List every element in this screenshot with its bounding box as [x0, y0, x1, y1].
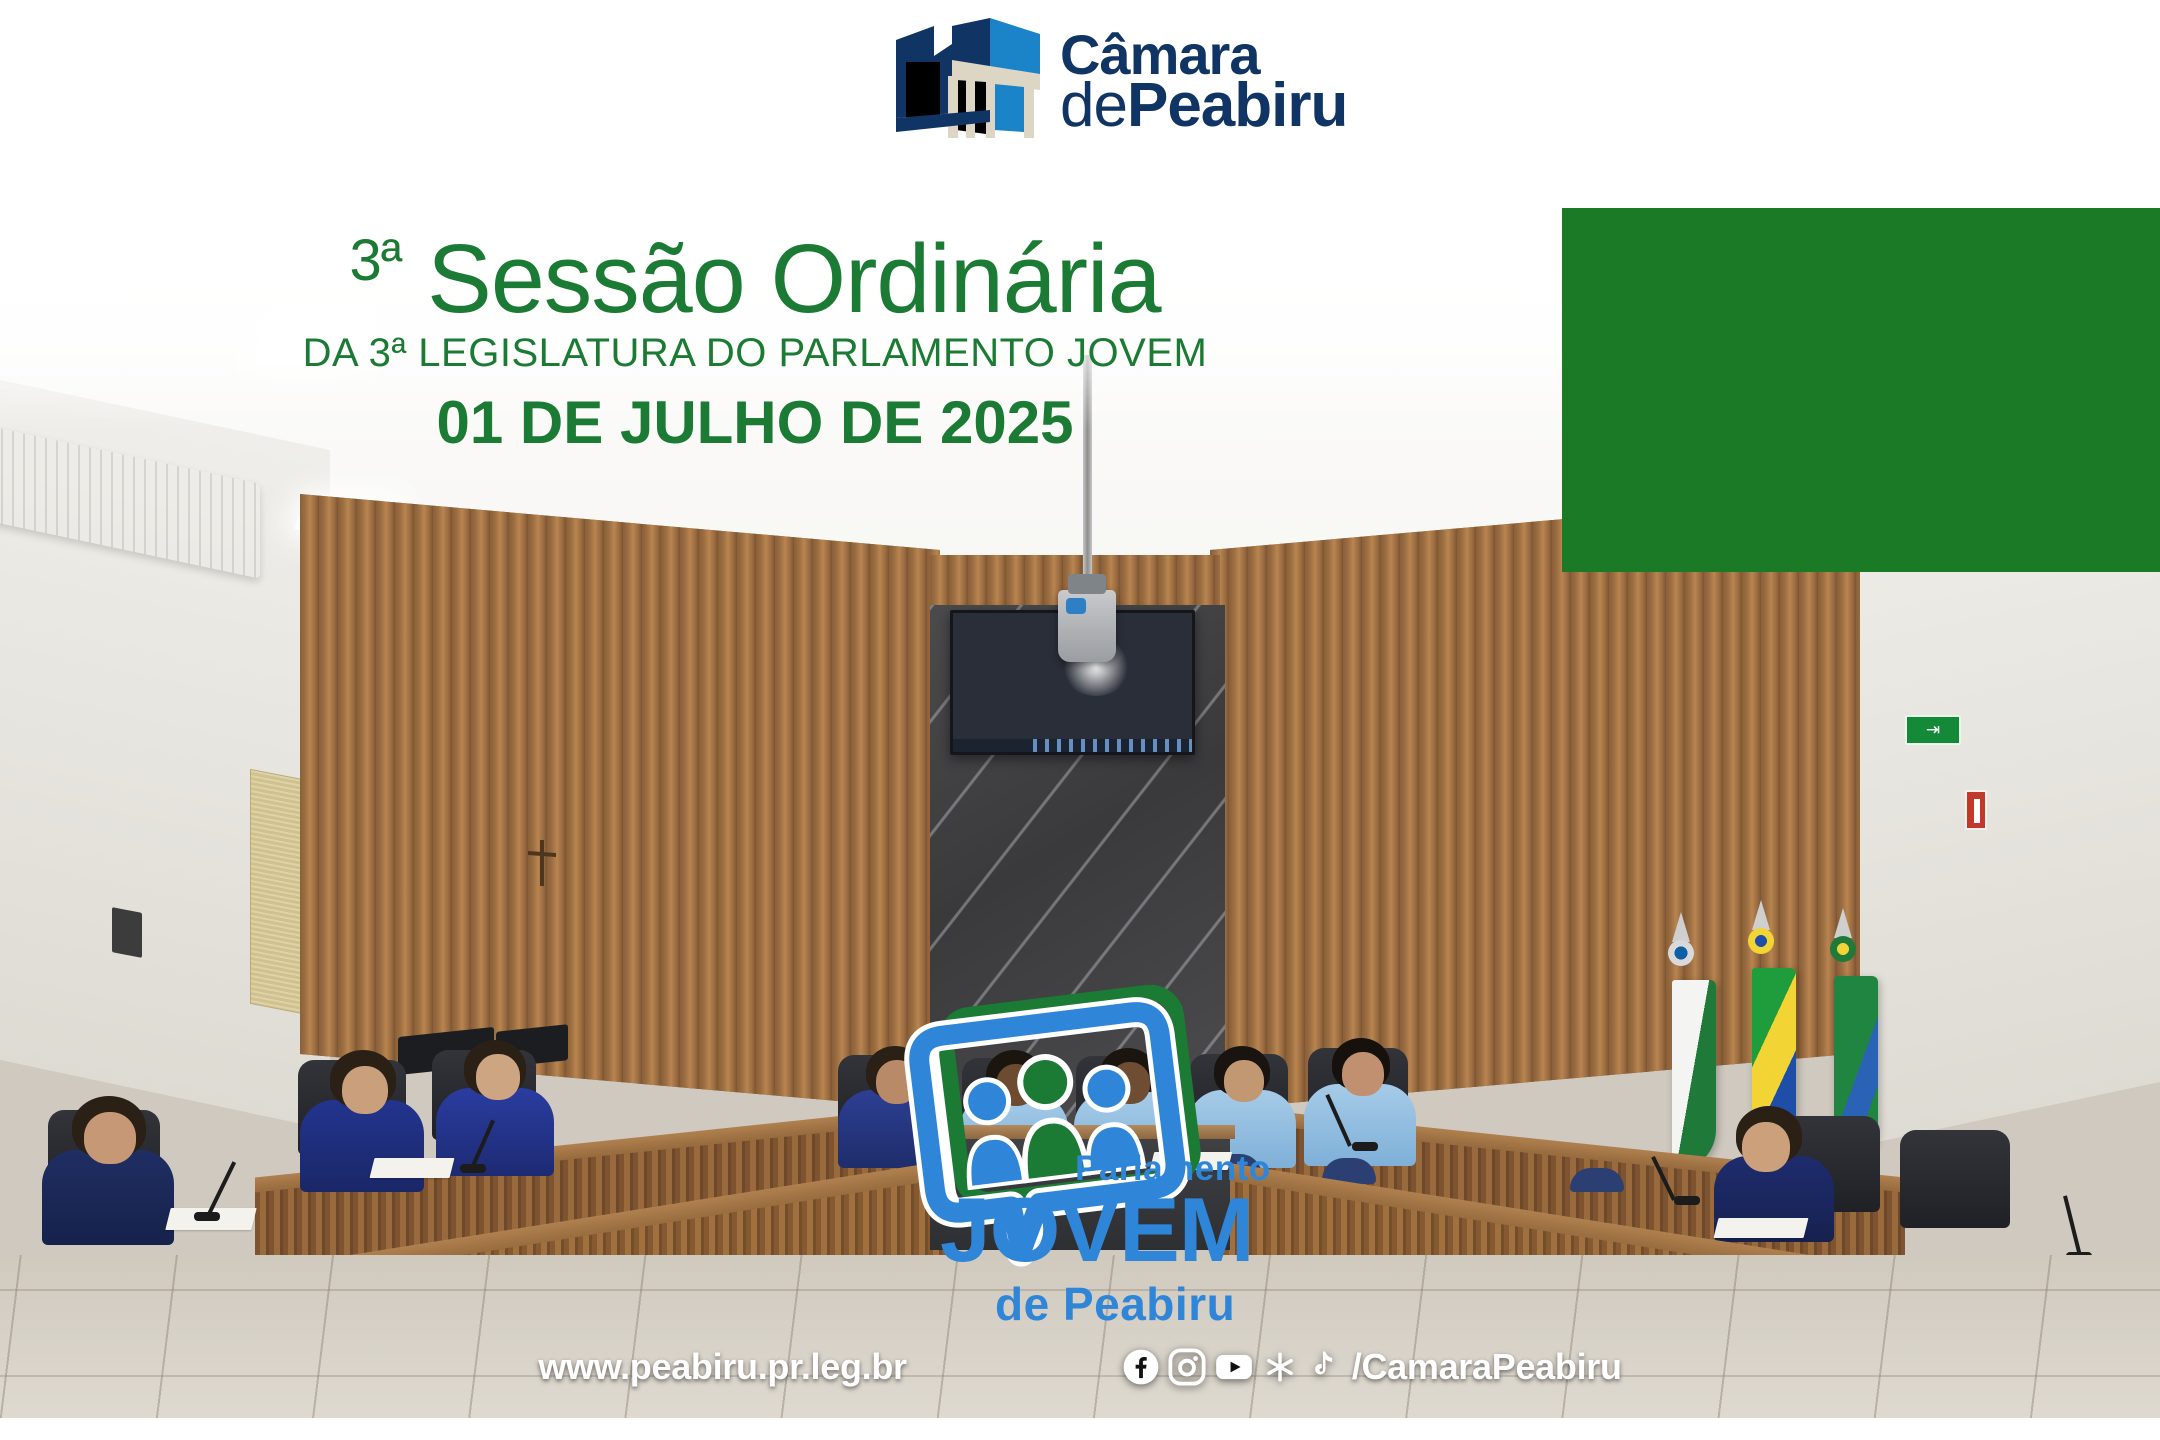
youtube-icon[interactable] [1214, 1348, 1254, 1386]
flag-finial [1672, 912, 1690, 942]
ceiling-projector [1058, 590, 1116, 662]
session-title-block: 3ª Sessão Ordinária DA 3ª LEGISLATURA DO… [0, 230, 1510, 457]
footer-bar: www.peabiru.pr.leg.br [0, 1346, 2160, 1388]
projector-lens [1066, 598, 1086, 614]
flag-finial-ball [1748, 928, 1774, 954]
tiktok-icon[interactable] [1306, 1348, 1338, 1386]
green-placeholder-block [1562, 208, 2160, 572]
poster-canvas: ⇥ [0, 0, 2160, 1440]
title-ordinal: 3ª [349, 228, 401, 293]
title-subtitle: DA 3ª LEGISLATURA DO PARLAMENTO JOVEM [0, 331, 1510, 376]
flag-finial [1834, 908, 1852, 938]
document-paper [370, 1158, 455, 1178]
session-date: 01 DE JULHO DE 2025 [0, 388, 1510, 457]
logo-peabiru: Peabiru [1127, 71, 1347, 140]
flag-parana [1672, 980, 1716, 1170]
building-icon [890, 18, 1040, 146]
social-handle[interactable]: /CamaraPeabiru [1352, 1346, 1622, 1388]
document-paper [1714, 1218, 1809, 1238]
wall-switch [112, 907, 142, 958]
facebook-icon[interactable] [1122, 1348, 1160, 1386]
title-main-text: Sessão Ordinária [427, 224, 1160, 333]
camara-de-peabiru-logo[interactable]: Câmara dePeabiru [890, 18, 1347, 146]
chair [1900, 1130, 2010, 1228]
pj-line-de-peabiru: de Peabiru [995, 1277, 1235, 1331]
x-twitter-icon[interactable] [1262, 1348, 1298, 1386]
website-url[interactable]: www.peabiru.pr.leg.br [538, 1346, 906, 1388]
camara-wordmark: Câmara dePeabiru [1060, 31, 1347, 132]
bottom-white-band [0, 1418, 2160, 1440]
logo-line-de-peabiru: dePeabiru [1060, 79, 1347, 132]
page-title: 3ª Sessão Ordinária [0, 230, 1510, 329]
social-icon-group [1122, 1348, 1338, 1386]
uniform-cap [1570, 1168, 1624, 1192]
instagram-icon[interactable] [1168, 1348, 1206, 1386]
emergency-exit-icon: ⇥ [1905, 715, 1961, 745]
flag-finial [1752, 900, 1770, 930]
screen-taskbar [953, 739, 1192, 752]
logo-de: de [1060, 71, 1127, 140]
wood-slat-wall-left [300, 494, 940, 1110]
crucifix-icon [540, 840, 544, 886]
pj-line-jovem: JOVEM [940, 1179, 1254, 1283]
fire-extinguisher-marker-icon [1965, 790, 1987, 830]
flag-finial-ball [1668, 940, 1694, 966]
flag-finial-ball [1830, 936, 1856, 962]
